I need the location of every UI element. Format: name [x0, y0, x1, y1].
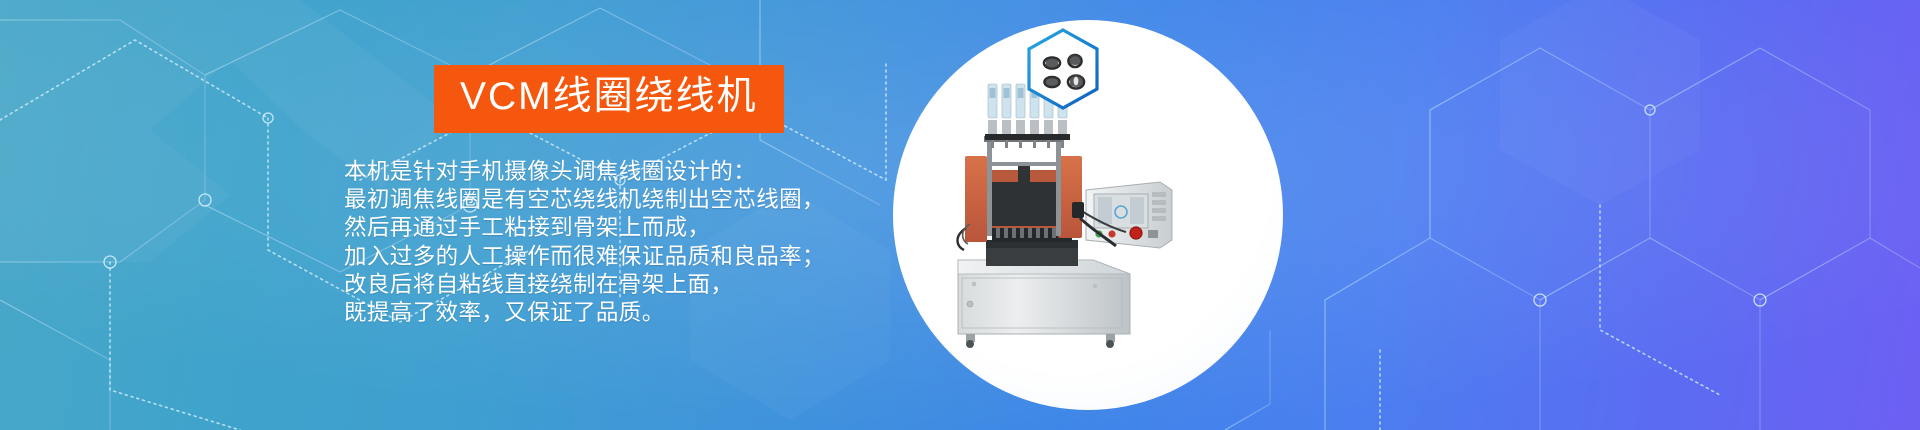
promo-banner: VCM线圈绕线机 本机是针对手机摄像头调焦线圈设计的： 最初调焦线圈是有空芯绕线… [0, 0, 1920, 430]
description-line: 加入过多的人工操作而很难保证品质和良品率； [344, 243, 825, 271]
hexagon-icon [1029, 30, 1097, 108]
description-text: 本机是针对手机摄像头调焦线圈设计的： 最初调焦线圈是有空芯绕线机绕制出空芯线圈，… [344, 158, 825, 327]
description-line: 既提高了效率，又保证了品质。 [344, 299, 825, 327]
description-line: 本机是针对手机摄像头调焦线圈设计的： [344, 158, 825, 186]
description-line: 然后再通过手工粘接到骨架上而成， [344, 214, 825, 242]
description-line: 改良后将自粘线直接绕制在骨架上面， [344, 271, 825, 299]
product-photo [930, 78, 1190, 348]
product-badge [1024, 27, 1102, 111]
description-line: 最初调焦线圈是有空芯绕线机绕制出空芯线圈， [344, 186, 825, 214]
title-plate: VCM线圈绕线机 [434, 65, 784, 133]
page-title: VCM线圈绕线机 [460, 75, 758, 119]
